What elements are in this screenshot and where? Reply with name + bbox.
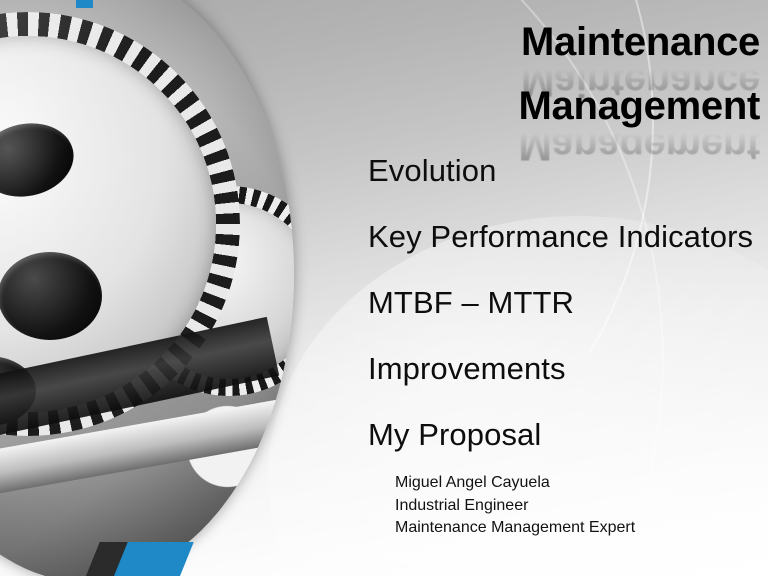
author-role: Industrial Engineer <box>395 495 635 518</box>
agenda-list: Evolution Key Performance Indicators MTB… <box>368 155 768 450</box>
agenda-item-improvements: Improvements <box>368 353 768 384</box>
gears-photo <box>0 0 294 576</box>
gears-photo-image <box>0 0 294 576</box>
gear-hole <box>0 115 80 205</box>
accent-bar-bottom-blue <box>114 542 194 576</box>
author-block: Miguel Angel Cayuela Industrial Engineer… <box>395 472 635 540</box>
title-line-1-text: Maintenance <box>521 20 760 64</box>
accent-bar-top <box>76 0 93 8</box>
agenda-item-mtbf-mttr: MTBF – MTTR <box>368 287 768 318</box>
agenda-item-my-proposal: My Proposal <box>368 419 768 450</box>
title-line-2: Management Management <box>368 86 760 126</box>
author-name: Miguel Angel Cayuela <box>395 472 635 495</box>
agenda-item-kpi: Key Performance Indicators <box>368 221 768 252</box>
title-line-2-text: Management <box>519 84 761 128</box>
presentation-slide: Maintenance Maintenance Management Manag… <box>0 0 768 576</box>
slide-title: Maintenance Maintenance Management Manag… <box>368 22 760 126</box>
author-specialty: Maintenance Management Expert <box>395 517 635 540</box>
gear-hole <box>0 252 102 340</box>
title-line-1: Maintenance Maintenance <box>368 22 760 62</box>
agenda-item-evolution: Evolution <box>368 155 768 186</box>
